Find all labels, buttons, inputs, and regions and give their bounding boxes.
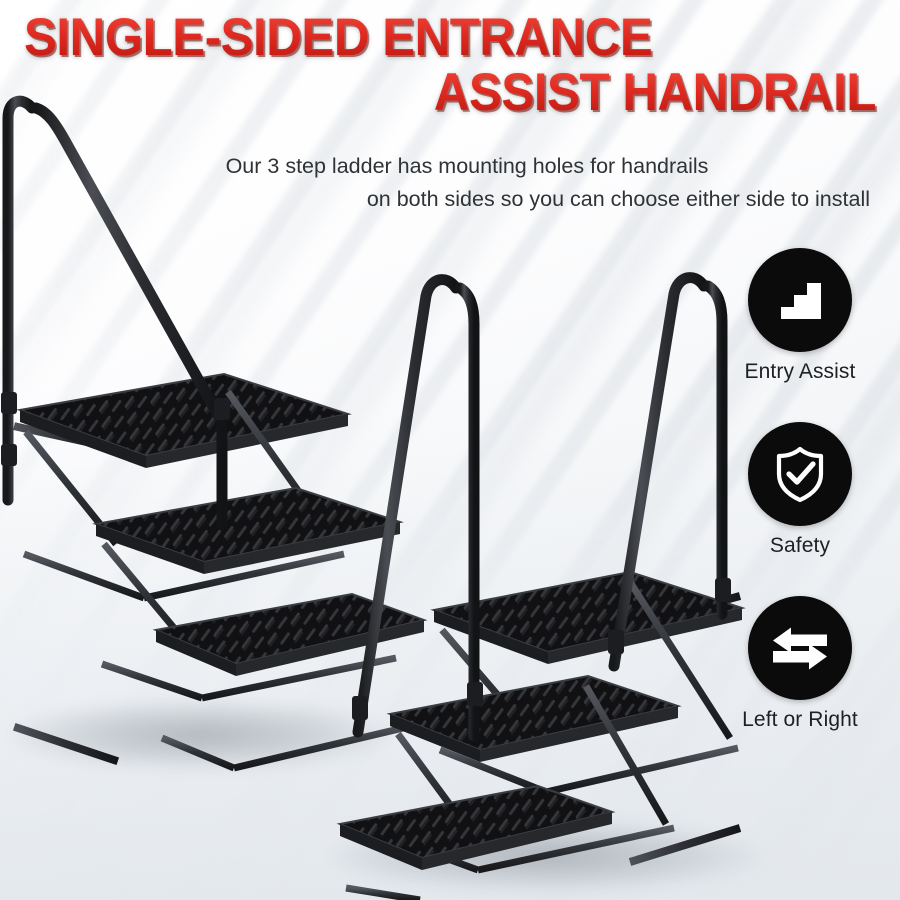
feature-icon-circle	[748, 248, 852, 352]
feature-left-or-right[interactable]: Left or Right	[714, 596, 886, 732]
stairs-icon	[769, 269, 831, 331]
product-banner: SINGLE-SIDED ENTRANCE ASSIST HANDRAIL Ou…	[0, 0, 900, 900]
feature-icon-circle	[748, 596, 852, 700]
subtitle-line-1: Our 3 step ladder has mounting holes for…	[60, 150, 874, 183]
feature-label: Entry Assist	[714, 360, 886, 384]
headline-line-2: ASSIST HANDRAIL	[84, 67, 876, 118]
feature-label: Safety	[714, 534, 886, 558]
headline-line-1: SINGLE-SIDED ENTRANCE	[24, 12, 816, 63]
headline-line-2-wrap: ASSIST HANDRAIL	[24, 67, 876, 118]
right-unit-step-1	[340, 786, 612, 900]
right-unit-handrail-left	[358, 280, 474, 736]
feature-badge-list: Entry Assist Safety Left or Right	[714, 248, 886, 732]
shield-check-icon	[768, 442, 832, 506]
feature-safety[interactable]: Safety	[714, 422, 886, 558]
feature-label: Left or Right	[714, 708, 886, 732]
headline-block: SINGLE-SIDED ENTRANCE ASSIST HANDRAIL	[0, 12, 900, 119]
feature-entry-assist[interactable]: Entry Assist	[714, 248, 886, 384]
left-right-arrows-icon	[767, 615, 833, 681]
subtitle-block: Our 3 step ladder has mounting holes for…	[60, 150, 874, 217]
feature-icon-circle	[748, 422, 852, 526]
subtitle-line-2: on both sides so you can choose either s…	[60, 183, 874, 216]
